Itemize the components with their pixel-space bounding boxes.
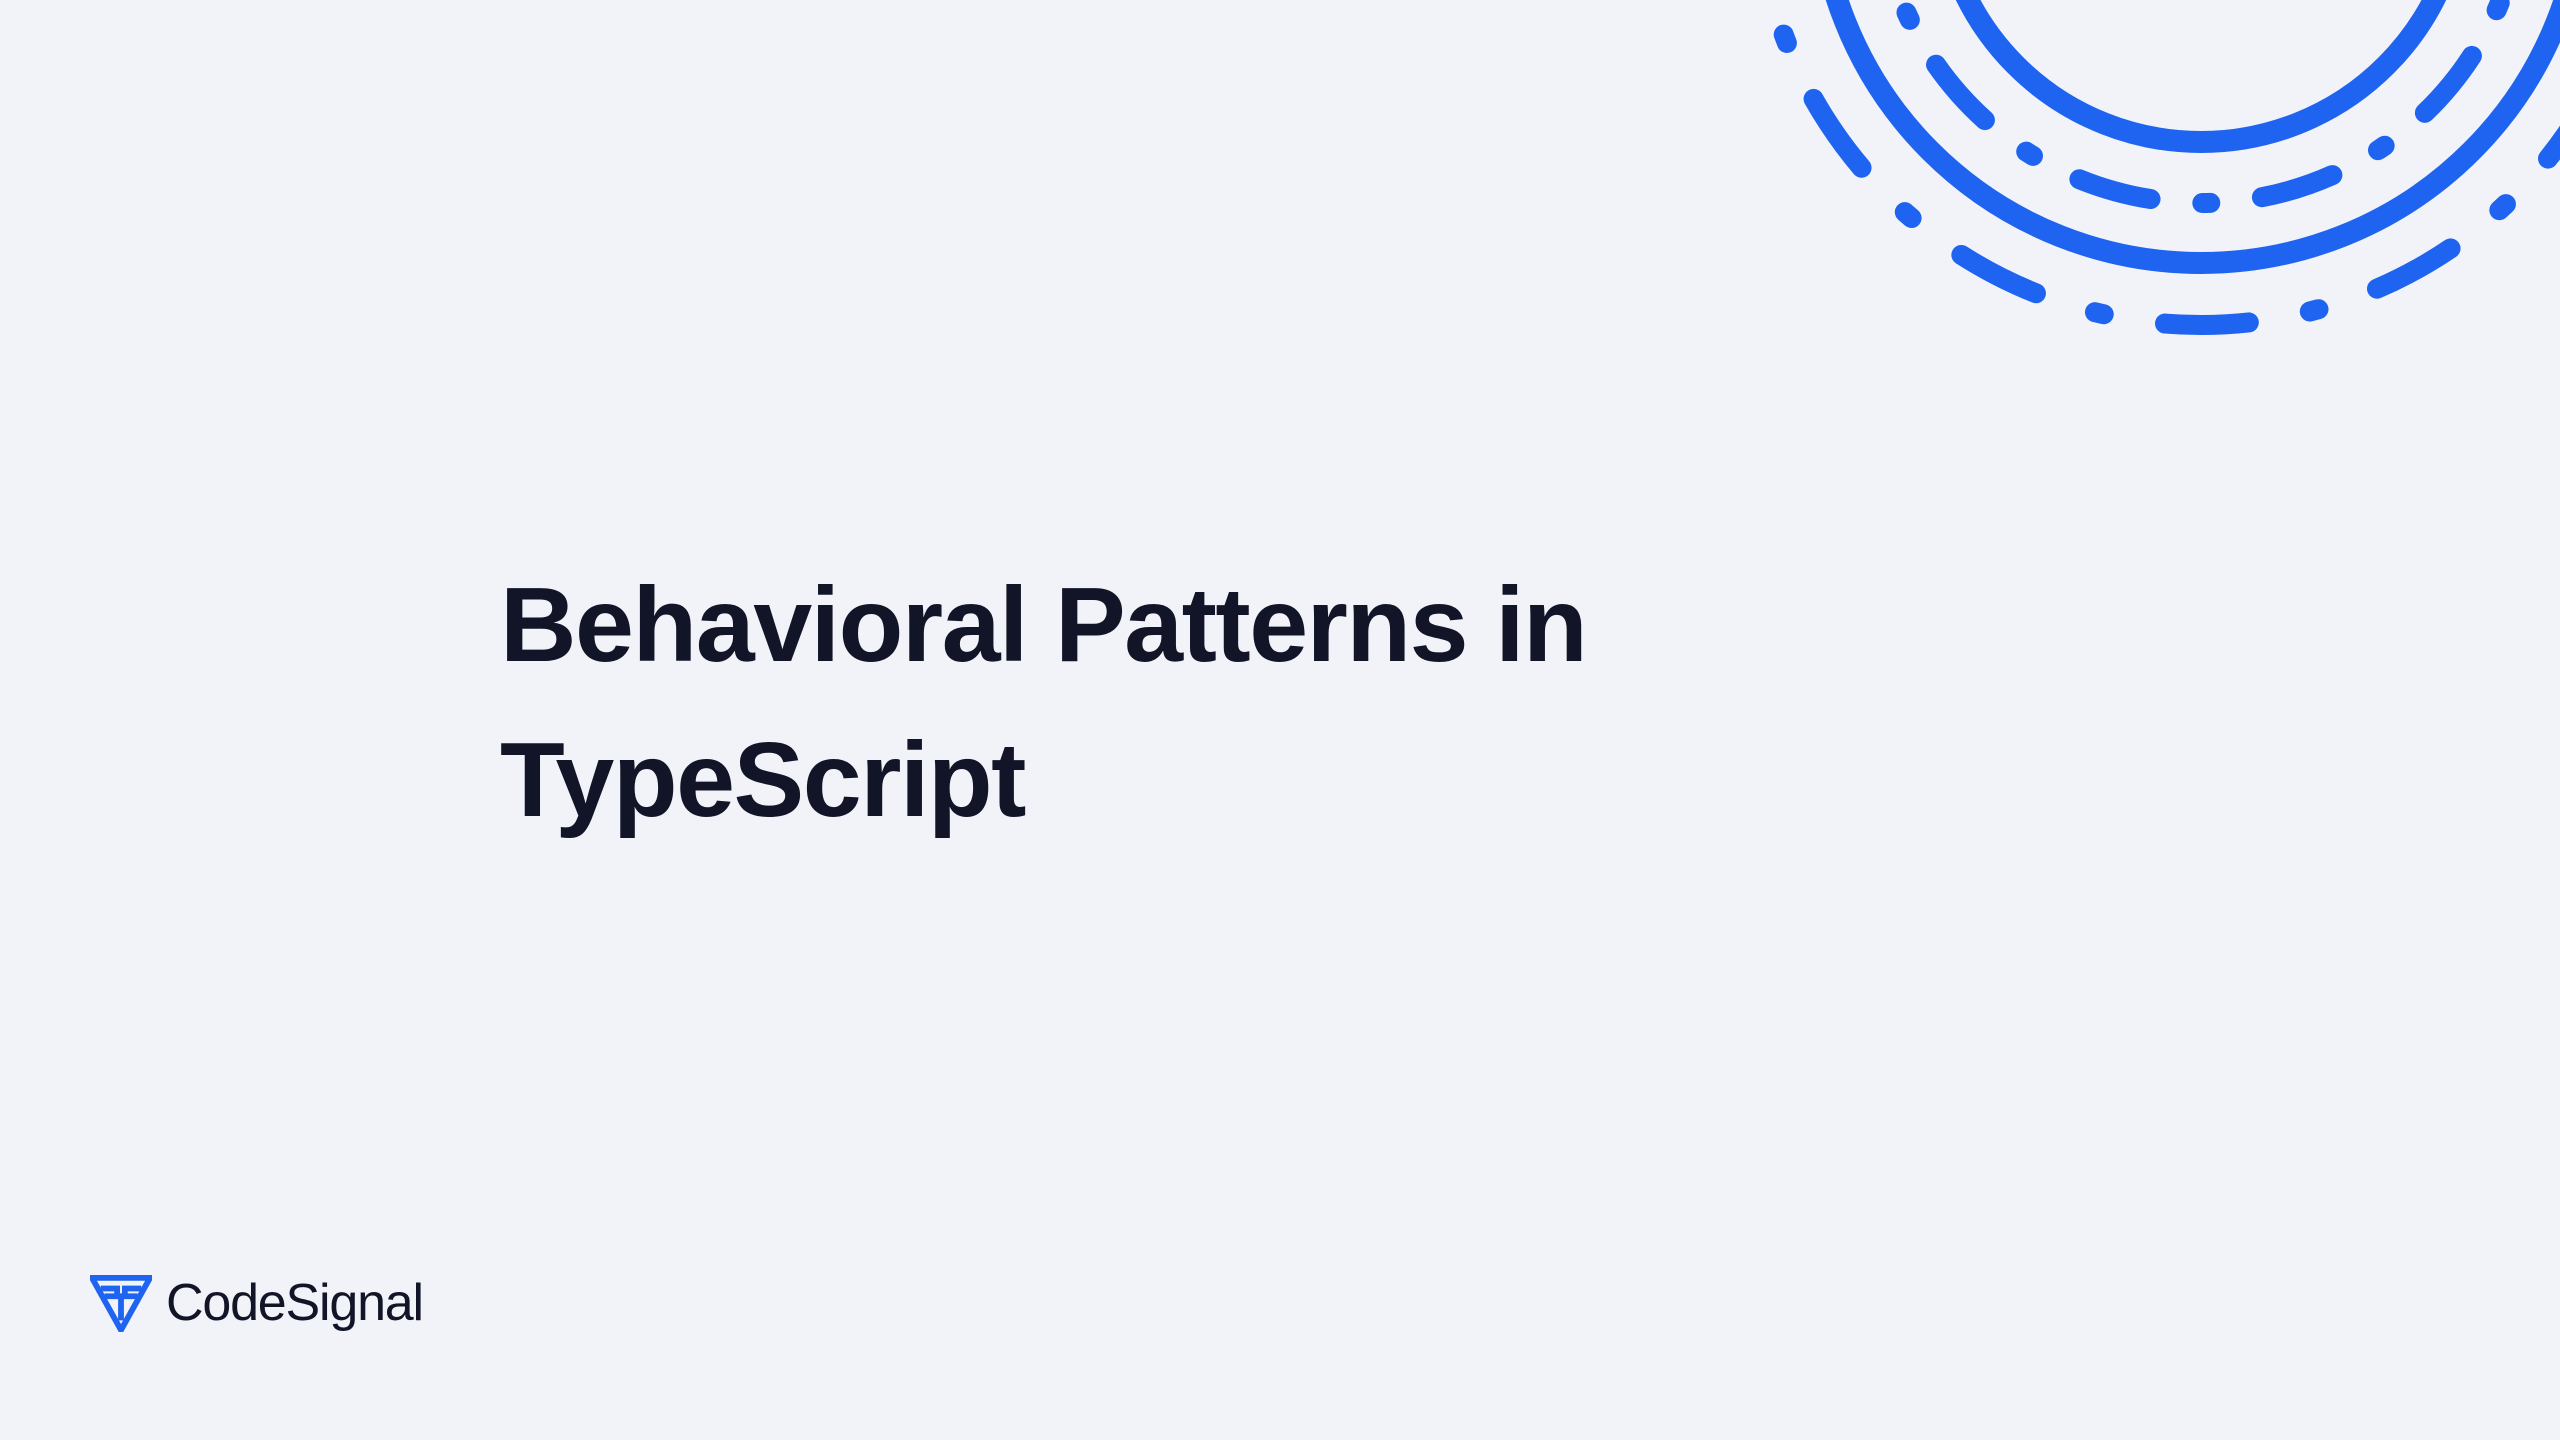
ring-dashed-inner [1878, 0, 2524, 203]
codesignal-wing-mark-icon [90, 1274, 152, 1332]
concentric-rings-motif [1560, 0, 2560, 600]
codesignal-logo: CodeSignal [90, 1274, 423, 1332]
slide-canvas: Behavioral Patterns in TypeScript CodeSi… [0, 0, 2560, 1440]
page-title: Behavioral Patterns in TypeScript [500, 548, 1900, 858]
ring-dashed-outer [1756, 0, 2560, 325]
ring-solid-outer [1818, 0, 2560, 263]
title-block: Behavioral Patterns in TypeScript [500, 548, 1900, 858]
codesignal-wordmark: CodeSignal [166, 1277, 423, 1329]
ring-solid-inner [1939, 0, 2463, 142]
